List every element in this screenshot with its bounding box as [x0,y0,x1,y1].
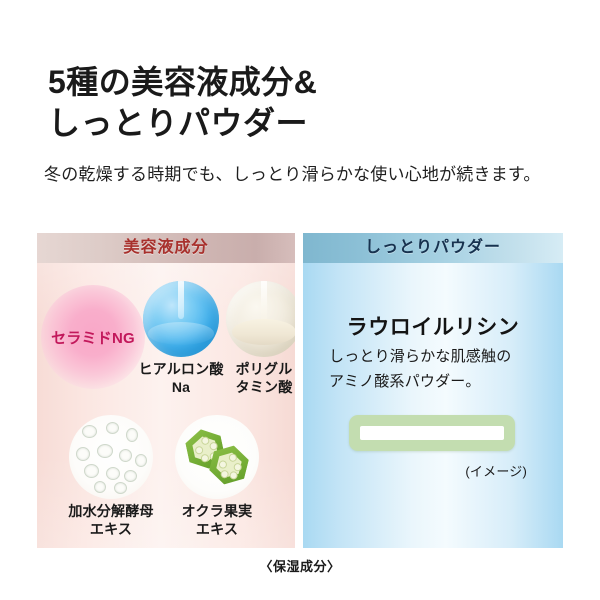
ingredient-ceramide-ng: セラミドNG [41,285,145,389]
ingredient-label-okra-fruit-extract: オクラ果実 エキス [165,503,269,538]
page-title-line-1: 5種の美容液成分& [48,62,568,103]
powder-swatch-image [349,415,515,451]
powder-description: しっとり滑らかな肌感触の アミノ酸系パウダー。 [329,345,541,395]
yeast-cells-icon [69,415,153,499]
page-title: 5種の美容液成分& しっとりパウダー [48,62,568,144]
powder-swatch-inner [360,426,504,440]
ingredient-polyglutamic-acid: ポリグル タミン酸 [219,281,295,396]
ingredient-label-hydrolyzed-yeast-extract: 加水分解酵母 エキス [59,503,163,538]
panel-right-header: しっとりパウダー [303,233,563,263]
okra-slices-icon [175,415,259,499]
powder-name-title: ラウロイルリシン [303,311,563,341]
ingredient-hyaluronic-acid-na: ヒアルロン酸 Na [133,281,229,396]
powder-image-caption: (イメージ) [303,461,527,480]
ingredient-label-polyglutamic-acid: ポリグル タミン酸 [219,361,295,396]
footer-note: 〈保湿成分〉 [0,556,600,575]
blue-droplet-icon [143,281,219,357]
ingredient-label-hyaluronic-acid-na: ヒアルロン酸 Na [133,361,229,396]
panel-serum-ingredients: 美容液成分 セラミドNG ヒアルロン酸 Na ポリグル タミン酸 [37,233,295,548]
page-title-line-2: しっとりパウダー [48,103,568,144]
panel-moist-powder: しっとりパウダー ラウロイルリシン しっとり滑らかな肌感触の アミノ酸系パウダー… [303,233,563,548]
panel-left-header: 美容液成分 [37,233,295,263]
ingredient-row-bottom: 加水分解酵母 エキス [37,415,295,545]
page-subtitle: 冬の乾燥する時期でも、しっとり滑らかな使い心地が続きます。 [44,163,574,187]
panels-container: 美容液成分 セラミドNG ヒアルロン酸 Na ポリグル タミン酸 [37,233,563,548]
ingredient-label-ceramide-ng: セラミドNG [41,285,145,389]
ingredient-okra-fruit-extract: オクラ果実 エキス [165,415,269,538]
pink-blob-icon: セラミドNG [41,285,145,389]
ingredient-hydrolyzed-yeast-extract: 加水分解酵母 エキス [59,415,163,538]
cream-droplet-icon [226,281,295,357]
ingredient-row-top: セラミドNG ヒアルロン酸 Na ポリグル タミン酸 [37,263,295,413]
